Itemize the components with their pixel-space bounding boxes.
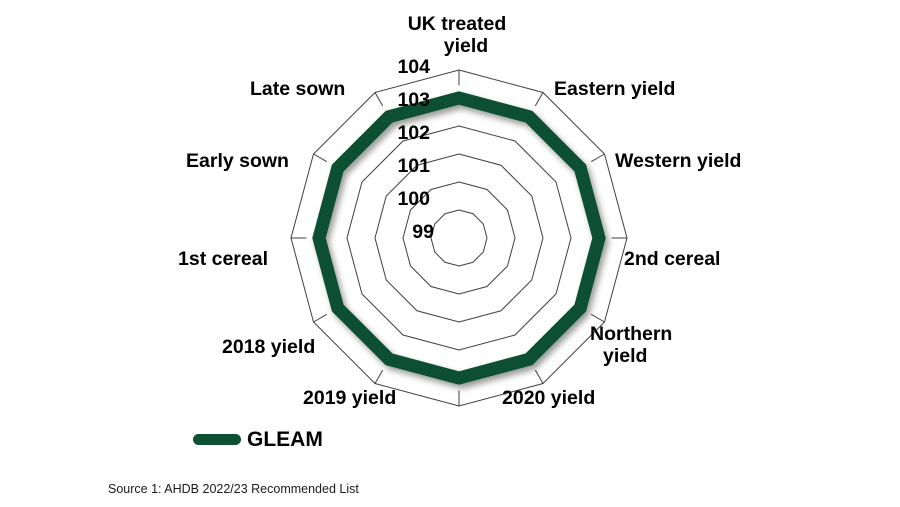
grid-ring-104: [291, 70, 627, 406]
grid-ring-101: [375, 154, 543, 322]
axis-label-uk-treated-yield-line2: yield: [444, 35, 488, 57]
axis-spoke-11: [375, 93, 383, 106]
radar-chart-plot: 99100101102103104 UK treated yield Easte…: [0, 0, 900, 507]
legend-label-gleam: GLEAM: [247, 429, 323, 450]
axis-spoke-5: [535, 370, 543, 383]
radial-tick-103: 103: [397, 89, 430, 111]
chart-legend: GLEAM: [193, 424, 323, 454]
axis-label-early-sown: Early sown: [186, 150, 289, 172]
axis-spoke-7: [375, 370, 383, 383]
radar-spokes: [291, 70, 627, 406]
grid-ring-102: [347, 126, 571, 350]
axis-spoke-2: [591, 154, 604, 162]
axis-label-2018-yield: 2018 yield: [222, 336, 315, 358]
radial-tick-99: 99: [412, 221, 434, 243]
radial-tick-101: 101: [397, 155, 430, 177]
radar-chart-figure: 99100101102103104 UK treated yield Easte…: [0, 0, 900, 507]
axis-label-uk-treated-yield-line1: UK treated: [408, 13, 507, 35]
grid-ring-99: [431, 210, 487, 266]
axis-spoke-10: [314, 154, 327, 162]
axis-label-western-yield: Western yield: [615, 150, 741, 172]
axis-label-2019-yield: 2019 yield: [303, 387, 396, 409]
series-polygon-gleam: [319, 98, 599, 378]
axis-label-eastern-yield: Eastern yield: [554, 78, 675, 100]
axis-label-1st-cereal: 1st cereal: [178, 248, 268, 270]
radar-gridlines: [291, 70, 627, 406]
legend-marker-gleam: [193, 434, 241, 445]
axis-spoke-4: [591, 314, 604, 322]
radial-tick-104: 104: [397, 56, 430, 78]
axis-label-northern-yield-line1: Northern: [590, 323, 672, 345]
axis-spoke-1: [535, 93, 543, 106]
axis-label-late-sown: Late sown: [250, 78, 345, 100]
axis-label-northern-yield-line2: yield: [603, 345, 647, 367]
axis-spoke-8: [314, 314, 327, 322]
radar-series-gleam: [319, 98, 599, 378]
source-note: Source 1: AHDB 2022/23 Recommended List: [108, 482, 359, 496]
axis-label-2nd-cereal: 2nd cereal: [624, 248, 720, 270]
axis-label-2020-yield: 2020 yield: [502, 387, 595, 409]
radial-tick-102: 102: [397, 122, 430, 144]
radial-tick-labels: 99100101102103104: [397, 56, 434, 243]
radial-tick-100: 100: [397, 188, 430, 210]
